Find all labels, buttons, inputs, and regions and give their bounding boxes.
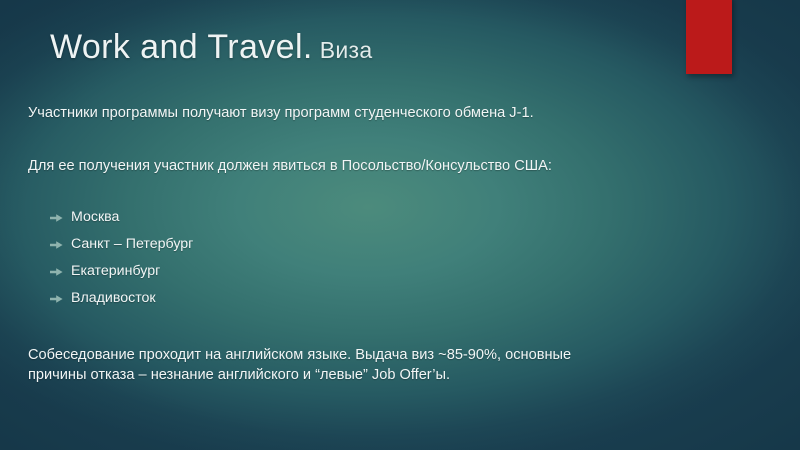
list-item-label: Владивосток — [71, 290, 156, 306]
list-item: Владивосток — [28, 285, 728, 312]
list-item: Екатеринбург — [28, 258, 728, 285]
spacer — [28, 176, 728, 204]
arrow-bullet-icon — [50, 213, 63, 222]
list-item-label: Екатеринбург — [71, 263, 160, 279]
title-subtitle-text: Виза — [320, 37, 373, 63]
arrow-bullet-icon — [50, 294, 63, 303]
list-item: Москва — [28, 204, 728, 231]
slide-body: Участники программы получают визу програ… — [28, 104, 728, 385]
list-item-label: Москва — [71, 209, 119, 225]
list-item: Санкт – Петербург — [28, 231, 728, 258]
list-item-label: Санкт – Петербург — [71, 236, 193, 252]
spacer — [28, 123, 728, 157]
slide-canvas: Work and Travel.Виза Участники программы… — [0, 0, 800, 450]
instruction-paragraph: Для ее получения участник должен явиться… — [28, 157, 728, 176]
closing-paragraph-line1: Собеседование проходит на английском язы… — [28, 346, 728, 366]
city-list: Москва Санкт – Петербург Екатеринбург — [28, 204, 728, 312]
title-main-text: Work and Travel. — [50, 28, 313, 66]
intro-paragraph: Участники программы получают визу програ… — [28, 104, 728, 123]
closing-paragraph-line2: причины отказа – незнание английского и … — [28, 366, 728, 386]
spacer — [28, 312, 728, 346]
page-title: Work and Travel.Виза — [50, 28, 373, 67]
arrow-bullet-icon — [50, 267, 63, 276]
arrow-bullet-icon — [50, 240, 63, 249]
accent-rectangle — [686, 0, 732, 74]
